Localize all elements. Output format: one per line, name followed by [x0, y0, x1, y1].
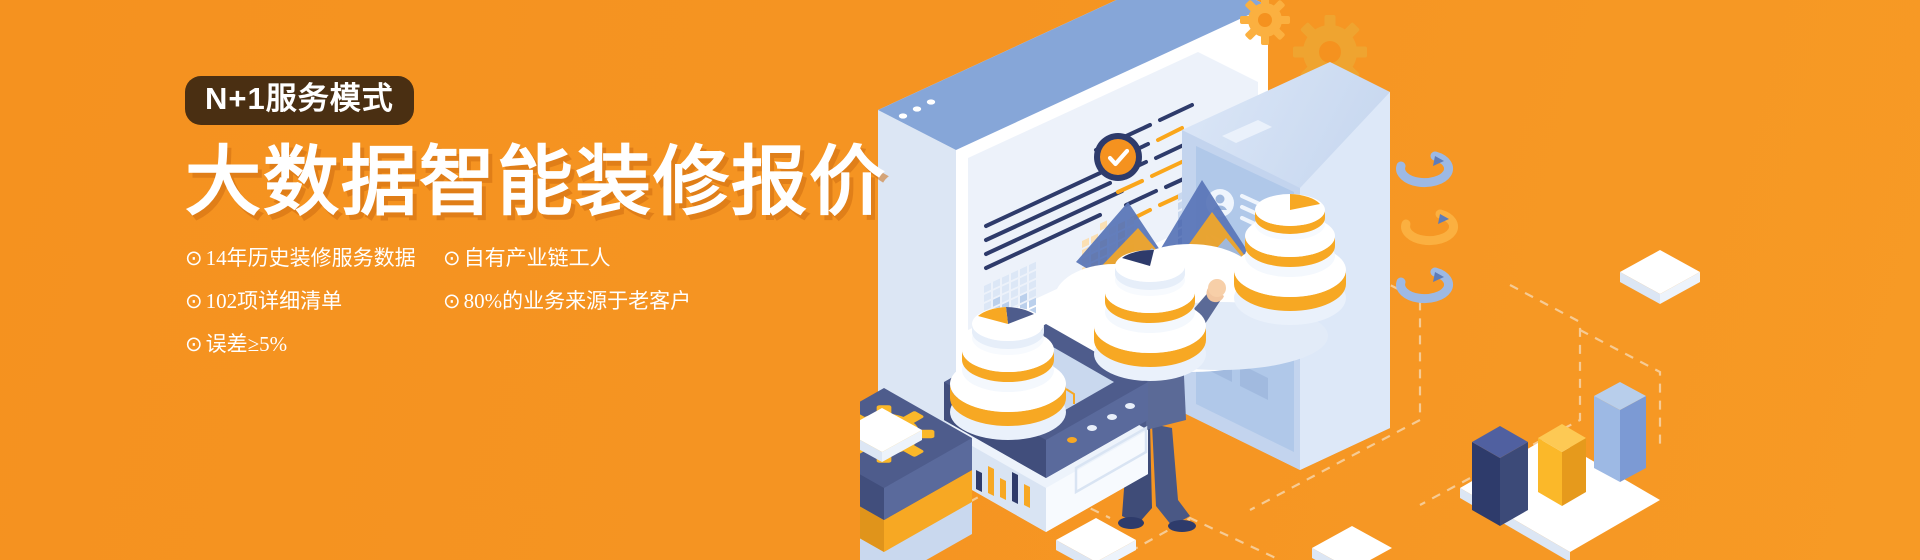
- list-item: ⊙ 14年历史装修服务数据: [185, 248, 443, 269]
- list-item: ⊙ 误差≥5%: [185, 334, 443, 355]
- list-item: ⊙ 自有产业链工人: [443, 248, 743, 269]
- feature-bullets: ⊙ 14年历史装修服务数据 ⊙ 102项详细清单 ⊙ 误差≥5% ⊙ 自有产业链…: [185, 248, 825, 377]
- list-item-label: 102项详细清单: [206, 291, 343, 312]
- bullet-marker-icon: ⊙: [185, 291, 203, 312]
- list-item-label: 误差≥5%: [206, 334, 288, 355]
- list-item-label: 14年历史装修服务数据: [206, 248, 416, 269]
- check-badge-icon: [1094, 133, 1142, 181]
- list-item: ⊙ 102项详细清单: [185, 291, 443, 312]
- feature-bullets-column-left: ⊙ 14年历史装修服务数据 ⊙ 102项详细清单 ⊙ 误差≥5%: [185, 248, 443, 377]
- list-item: ⊙ 80%的业务来源于老客户: [443, 291, 743, 312]
- illustration-big-data: [860, 0, 1920, 560]
- bullet-marker-icon: ⊙: [443, 291, 461, 312]
- service-model-badge: N+1服务模式: [185, 76, 414, 125]
- bullet-marker-icon: ⊙: [185, 248, 203, 269]
- bullet-marker-icon: ⊙: [185, 334, 203, 355]
- banner-copy: N+1服务模式 大数据智能装修报价 ⊙ 14年历史装修服务数据 ⊙ 102项详细…: [185, 76, 825, 377]
- feature-bullets-column-right: ⊙ 自有产业链工人 ⊙ 80%的业务来源于老客户: [443, 248, 743, 377]
- rotation-rings-icon: [1401, 156, 1454, 299]
- promo-banner: N+1服务模式 大数据智能装修报价 ⊙ 14年历史装修服务数据 ⊙ 102项详细…: [0, 0, 1920, 560]
- list-item-label: 80%的业务来源于老客户: [464, 291, 692, 312]
- bullet-marker-icon: ⊙: [443, 248, 461, 269]
- page-title: 大数据智能装修报价: [185, 143, 825, 223]
- bar-chart-platform: [1460, 382, 1660, 560]
- list-item-label: 自有产业链工人: [464, 248, 611, 269]
